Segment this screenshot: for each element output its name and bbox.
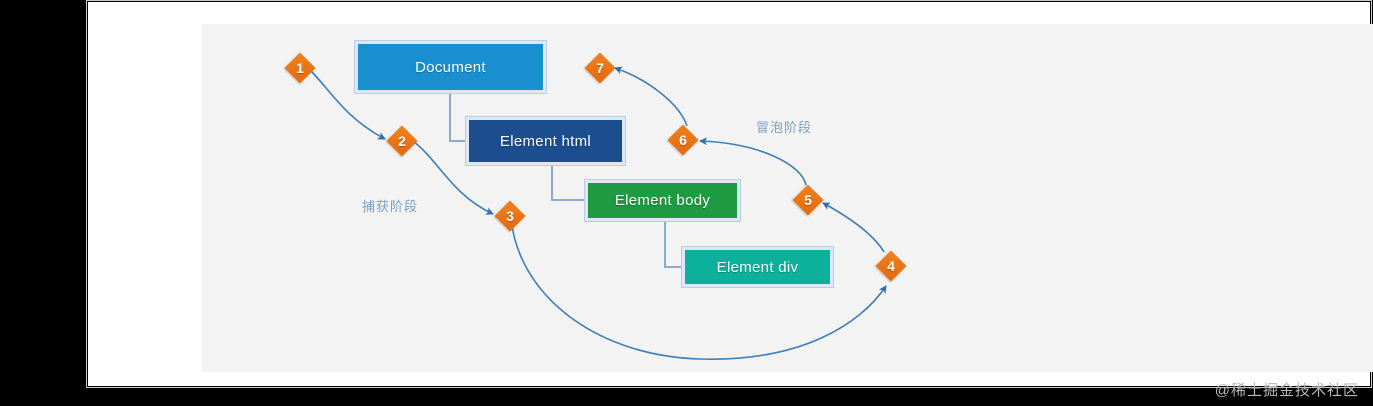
step-marker-2[interactable]: 2 bbox=[387, 126, 417, 156]
bubble-arrow-4-5 bbox=[823, 203, 884, 252]
watermark: @稀土掘金技术社区 bbox=[1215, 379, 1359, 400]
connector-html-body bbox=[552, 165, 585, 200]
step-marker-3[interactable]: 3 bbox=[495, 201, 525, 231]
node-element-div[interactable]: Element div bbox=[682, 247, 833, 287]
step-marker-4[interactable]: 4 bbox=[876, 251, 906, 281]
step-marker-1[interactable]: 1 bbox=[285, 53, 315, 83]
node-element-div-label: Element div bbox=[717, 259, 799, 276]
node-element-body-label: Element body bbox=[615, 192, 710, 209]
step-marker-1-label: 1 bbox=[285, 53, 315, 83]
node-element-body[interactable]: Element body bbox=[585, 180, 740, 221]
node-document-label: Document bbox=[415, 59, 486, 76]
step-marker-7-label: 7 bbox=[585, 53, 615, 83]
step-marker-2-label: 2 bbox=[387, 126, 417, 156]
label-capture-phase: 捕获阶段 bbox=[362, 196, 418, 215]
connector-document-html bbox=[450, 93, 466, 141]
step-marker-3-label: 3 bbox=[495, 201, 525, 231]
connector-body-div bbox=[665, 221, 682, 267]
step-marker-5-label: 5 bbox=[793, 185, 823, 215]
node-element-html-label: Element html bbox=[500, 133, 591, 150]
screen-root: Document Element html Element body Eleme… bbox=[0, 0, 1373, 406]
step-marker-6-label: 6 bbox=[668, 125, 698, 155]
capture-arrow-3-4 bbox=[512, 226, 886, 359]
bubble-arrow-5-6 bbox=[700, 141, 806, 185]
step-marker-6[interactable]: 6 bbox=[668, 125, 698, 155]
node-element-html[interactable]: Element html bbox=[466, 117, 625, 165]
step-marker-4-label: 4 bbox=[876, 251, 906, 281]
bubble-arrow-6-7 bbox=[615, 68, 687, 126]
step-marker-7[interactable]: 7 bbox=[585, 53, 615, 83]
label-bubble-phase: 冒泡阶段 bbox=[756, 117, 812, 136]
step-marker-5[interactable]: 5 bbox=[793, 185, 823, 215]
node-document[interactable]: Document bbox=[355, 41, 546, 93]
